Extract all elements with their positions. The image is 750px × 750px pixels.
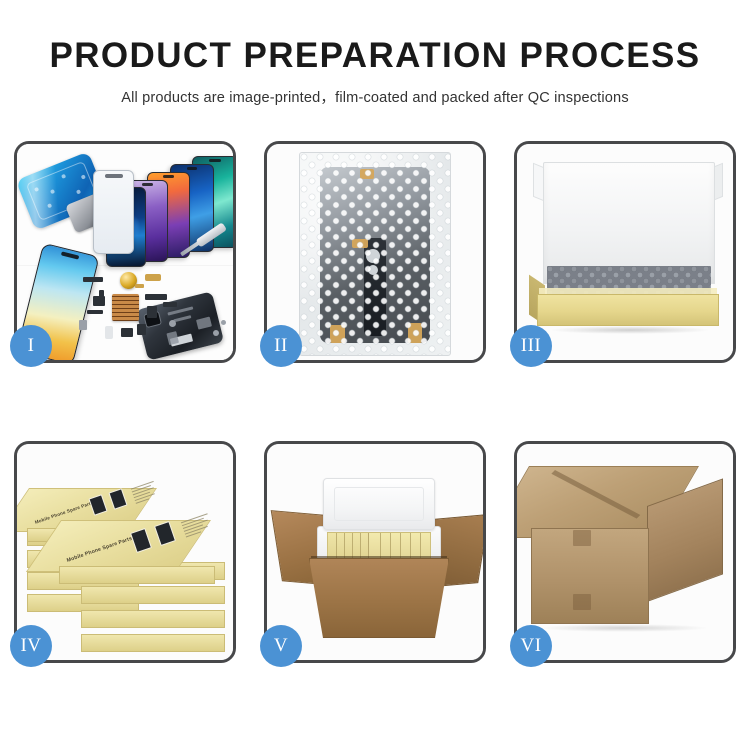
step-badge-2: II <box>260 325 302 367</box>
step-badge-3: III <box>510 325 552 367</box>
step-badge-1: I <box>10 325 52 367</box>
bubble-bag <box>299 152 451 356</box>
process-step-2: II <box>264 141 486 363</box>
process-step-6: VI <box>514 441 736 663</box>
outer-carton-open <box>281 460 477 650</box>
header: PRODUCT PREPARATION PROCESS All products… <box>0 0 750 107</box>
step-3-image <box>517 144 733 360</box>
process-step-1: I <box>14 141 236 363</box>
inner-box-open <box>531 162 725 340</box>
step-6-image <box>517 444 733 660</box>
process-step-4: Mobile Phone Spare Parts Mobile Phone Sp… <box>14 441 236 663</box>
step-badge-6: VI <box>510 625 552 667</box>
step-2-image <box>267 144 483 360</box>
step-4-image: Mobile Phone Spare Parts Mobile Phone Sp… <box>17 444 233 660</box>
step-badge-4: IV <box>10 625 52 667</box>
sealed-carton <box>529 466 725 644</box>
tape-patch-lower <box>573 594 591 610</box>
process-step-grid: I II <box>14 141 736 686</box>
process-step-5: V <box>264 441 486 663</box>
box-stack: Mobile Phone Spare Parts Mobile Phone Sp… <box>25 458 229 650</box>
tape-patch-upper <box>573 530 591 546</box>
styrofoam-lid <box>323 478 435 530</box>
page-title: PRODUCT PREPARATION PROCESS <box>0 38 750 75</box>
process-step-3: III <box>514 141 736 363</box>
box-base-yellow <box>537 294 719 326</box>
step-1-image <box>17 144 233 360</box>
carton-body <box>309 558 449 638</box>
page-subtitle: All products are image-printed，film-coat… <box>0 86 750 107</box>
loose-components <box>17 144 233 360</box>
step-badge-5: V <box>260 625 302 667</box>
step-5-image <box>267 444 483 660</box>
